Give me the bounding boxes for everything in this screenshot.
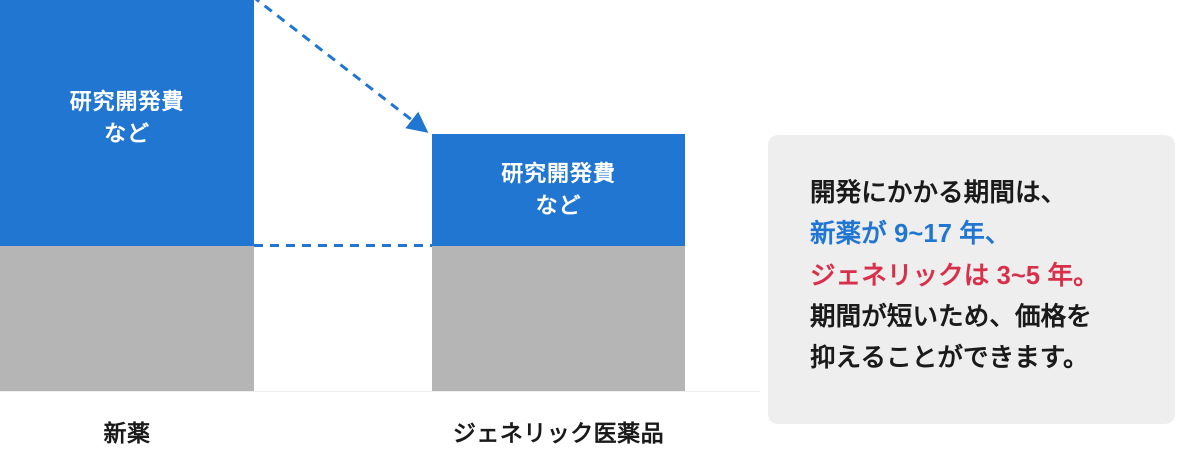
decrease-arrow-icon (252, 0, 417, 124)
bar-new-drug-segment-other (0, 246, 254, 391)
bar-new-drug-segment-rd: 研究開発費 など (0, 0, 254, 246)
bar-new-drug: 研究開発費 など (0, 0, 254, 391)
bar-generic-segment-rd: 研究開発費 など (432, 134, 685, 246)
explanation-callout: 開発にかかる期間は、 新薬が 9~17 年、 ジェネリックは 3~5 年。 期間… (768, 135, 1175, 424)
note-line-3: ジェネリックは 3~5 年。 (810, 256, 1175, 297)
note-line-4: 期間が短いため、価格を (810, 297, 1175, 338)
note-line-1: 開発にかかる期間は、 (810, 173, 1175, 214)
axis-label-generic: ジェネリック医薬品 (432, 414, 685, 448)
note-line-2: 新薬が 9~17 年、 (810, 214, 1175, 255)
bar-new-drug-rd-label-line2: など (70, 118, 184, 150)
chart-baseline (0, 391, 760, 392)
axis-label-new-drug: 新薬 (0, 414, 254, 448)
bar-generic: 研究開発費 など (432, 134, 685, 391)
bar-new-drug-rd-label-line1: 研究開発費 (70, 86, 184, 118)
bar-generic-rd-label-line1: 研究開発費 (501, 158, 615, 190)
cost-comparison-chart: 研究開発費 など 研究開発費 など 新薬 ジェネリック医薬品 (0, 0, 760, 459)
note-line-5: 抑えることができます。 (810, 338, 1175, 379)
bar-generic-segment-other (432, 246, 685, 391)
bar-generic-rd-label-line2: など (501, 190, 615, 222)
